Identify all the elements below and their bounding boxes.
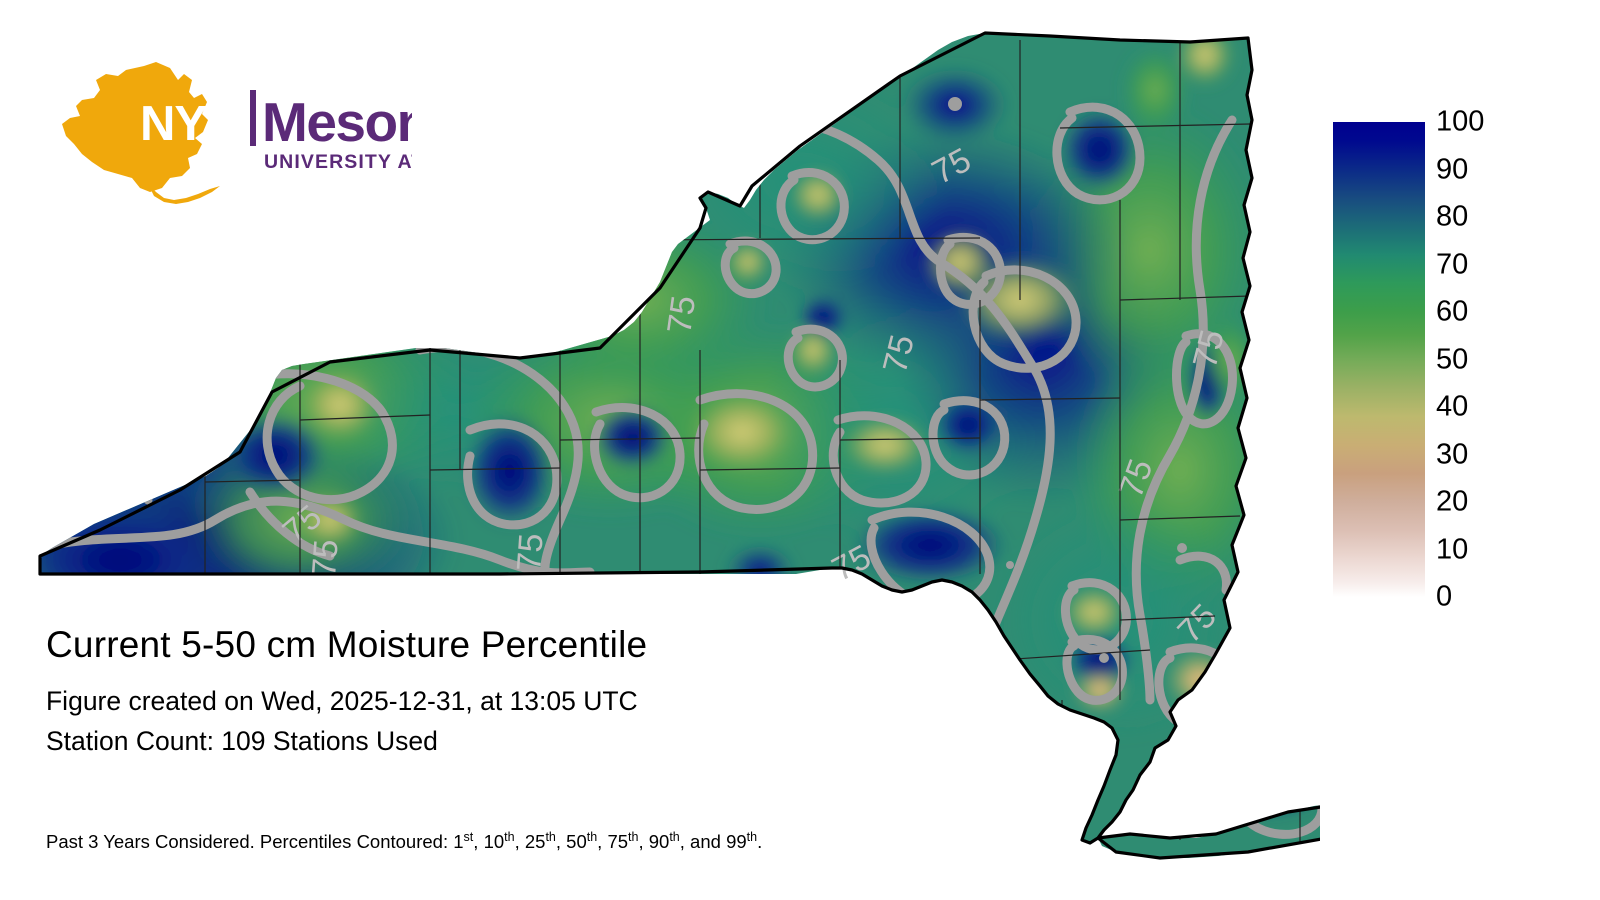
percentile-level-50: 50th [566,831,597,852]
colorbar-tick-10: 10 [1436,535,1468,564]
page-title: Current 5-50 cm Moisture Percentile [46,622,1096,668]
colorbar-tick-100: 100 [1436,108,1484,137]
footnote: Past 3 Years Considered. Percentiles Con… [46,830,762,854]
created-timestamp: Figure created on Wed, 2025-12-31, at 13… [46,681,1096,721]
map-svg: 75 75 75 75 75 75 75 75 75 75 [0,0,1320,900]
colorbar-tick-30: 30 [1436,440,1468,469]
colorbar-tick-50: 50 [1436,345,1468,374]
caption-block: Current 5-50 cm Moisture Percentile Figu… [46,622,1096,761]
colorbar-tick-80: 80 [1436,203,1468,232]
percentile-color-field [0,0,1320,900]
colorbar-tick-0: 0 [1436,583,1452,612]
svg-text:75: 75 [510,532,551,572]
svg-text:75: 75 [660,293,703,336]
colorbar-tick-60: 60 [1436,298,1468,327]
colorbar-tick-20: 20 [1436,488,1468,517]
colorbar-tick-40: 40 [1436,393,1468,422]
percentile-level-90: 90th [649,831,680,852]
figure-canvas: NYS Mesonet UNIVERSITY AT ALBANY [0,0,1600,900]
colorbar-tick-70: 70 [1436,250,1468,279]
percentile-level-1: 1st [453,831,473,852]
colorbar-tick-90: 90 [1436,155,1468,184]
station-count: Station Count: 109 Stations Used [46,721,1096,761]
colorbar [1333,122,1425,597]
soil-moisture-percentile-map: 75 75 75 75 75 75 75 75 75 75 [0,0,1320,900]
percentile-level-10: 10th [484,831,515,852]
colorbar-tick-labels: 1009080706050403020100 [1436,122,1556,597]
percentile-level-25: 25th [525,831,556,852]
colorbar-gradient [1333,122,1425,597]
percentile-level-99: 99th [726,831,757,852]
percentile-level-75: 75th [607,831,638,852]
